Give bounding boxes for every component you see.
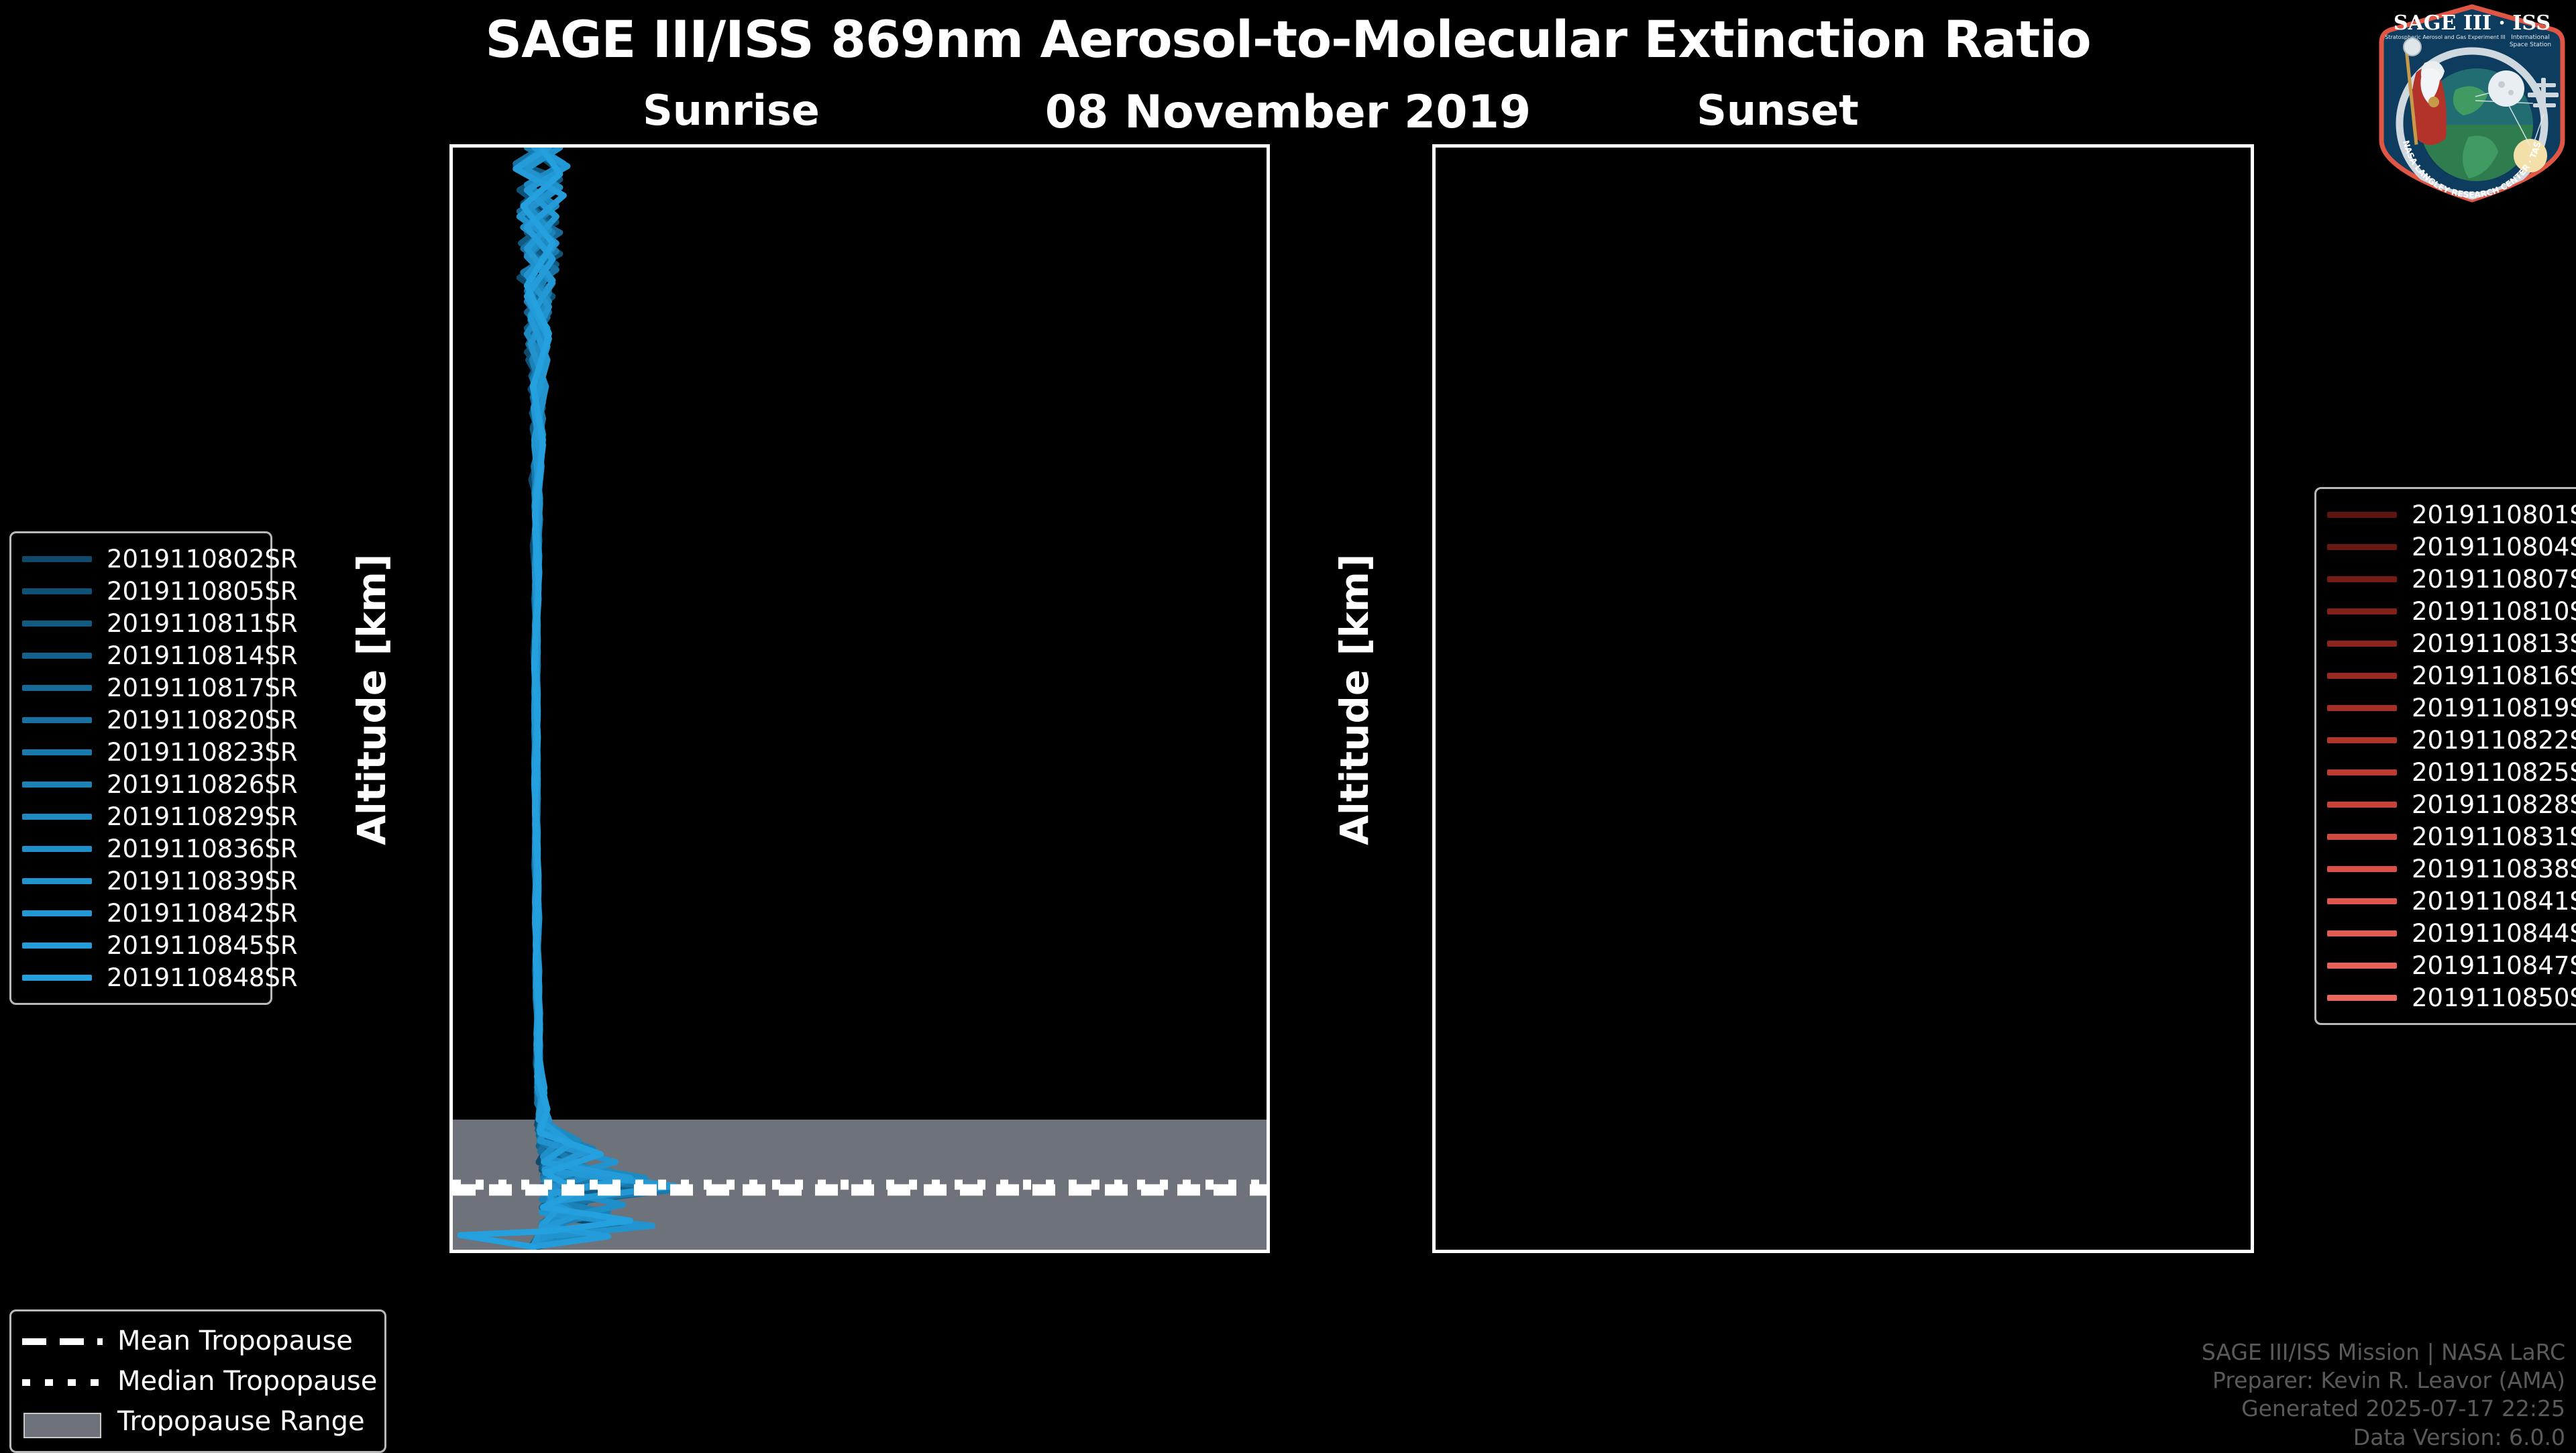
legend-item-median-tropopause: Median Tropopause [22, 1361, 371, 1401]
sunset-plot-area [1436, 148, 2251, 1250]
sunset-legend-item[interactable]: 2019110847SS [2327, 949, 2570, 981]
sunrise-legend-item[interactable]: 2019110805SR [22, 575, 257, 607]
median-tropopause-dot-icon [22, 1373, 103, 1390]
sunrise-legend-item[interactable]: 2019110820SR [22, 704, 257, 736]
legend-color-swatch-icon [22, 975, 92, 981]
credits-line: Data Version: 6.0.0 [2202, 1423, 2565, 1452]
legend-label: 2019110836SR [107, 835, 298, 863]
sunrise-y-axis-label: Altitude [km] [349, 554, 394, 845]
legend-item-mean-tropopause: Mean Tropopause [22, 1321, 371, 1361]
legend-color-swatch-icon [2327, 705, 2397, 711]
legend-color-swatch-icon [2327, 930, 2397, 936]
legend-color-swatch-icon [2327, 641, 2397, 647]
patch-title: SAGE III · ISS [2394, 11, 2551, 35]
sunset-legend-item[interactable]: 2019110810SS [2327, 595, 2570, 627]
legend-color-swatch-icon [22, 846, 92, 852]
sage-iii-iss-mission-patch-logo: SAGE III · ISS Stratospheric Aerosol and… [2375, 3, 2569, 204]
sunrise-legend: 2019110802SR2019110805SR2019110811SR2019… [9, 531, 272, 1005]
sunset-legend-item[interactable]: 2019110819SS [2327, 692, 2570, 724]
patch-subtitle-right-2: Space Station [2510, 42, 2551, 48]
legend-label: 2019110845SR [107, 931, 298, 960]
legend-color-swatch-icon [2327, 802, 2397, 808]
legend-color-swatch-icon [2327, 673, 2397, 679]
sunset-legend-item[interactable]: 2019110825SS [2327, 756, 2570, 788]
legend-color-swatch-icon [2327, 995, 2397, 1001]
sunrise-legend-item[interactable]: 2019110848SR [22, 961, 257, 993]
sunrise-legend-item[interactable]: 2019110802SR [22, 543, 257, 575]
legend-color-swatch-icon [2327, 866, 2397, 872]
sunset-legend: 2019110801SS2019110804SS2019110807SS2019… [2314, 487, 2576, 1025]
legend-label: 2019110820SR [107, 706, 298, 735]
legend-label: 2019110829SR [107, 802, 298, 831]
sunset-y-axis-label: Altitude [km] [1332, 554, 1377, 845]
sunrise-legend-item[interactable]: 2019110836SR [22, 832, 257, 865]
sunrise-legend-item[interactable]: 2019110823SR [22, 736, 257, 768]
sunrise-plot-panel [449, 144, 1270, 1253]
legend-label: 2019110848SR [107, 963, 298, 992]
credits-line: Preparer: Kevin R. Leavor (AMA) [2202, 1366, 2565, 1395]
patch-subtitle-right-1: International [2511, 34, 2549, 41]
legend-label: 2019110814SR [107, 641, 298, 670]
legend-color-swatch-icon [2327, 898, 2397, 904]
legend-label: 2019110850SS [2412, 983, 2576, 1012]
legend-label: 2019110823SR [107, 738, 298, 767]
mean-tropopause-dash-icon [22, 1332, 103, 1350]
legend-color-swatch-icon [22, 653, 92, 659]
patch-subtitle-left: Stratospheric Aerosol and Gas Experiment… [2385, 34, 2505, 40]
legend-color-swatch-icon [22, 685, 92, 691]
sunset-plot-panel [1432, 144, 2254, 1253]
legend-color-swatch-icon [22, 717, 92, 723]
legend-color-swatch-icon [2327, 608, 2397, 614]
legend-label: 2019110822SS [2412, 726, 2576, 755]
legend-label: 2019110838SS [2412, 855, 2576, 883]
legend-color-swatch-icon [2327, 963, 2397, 969]
page-title: SAGE III/ISS 869nm Aerosol-to-Molecular … [0, 9, 2576, 69]
legend-label: 2019110825SS [2412, 758, 2576, 787]
legend-color-swatch-icon [22, 556, 92, 562]
legend-label: 2019110804SS [2412, 533, 2576, 561]
legend-color-swatch-icon [22, 588, 92, 594]
legend-color-swatch-icon [22, 910, 92, 916]
sunrise-legend-item[interactable]: 2019110842SR [22, 897, 257, 929]
sunset-legend-item[interactable]: 2019110831SS [2327, 820, 2570, 853]
credits-line: Generated 2025-07-17 22:25 [2202, 1395, 2565, 1423]
legend-color-swatch-icon [22, 878, 92, 884]
legend-color-swatch-icon [2327, 544, 2397, 550]
legend-label: 2019110828SS [2412, 790, 2576, 819]
legend-label: 2019110811SR [107, 609, 298, 638]
legend-color-swatch-icon [22, 621, 92, 627]
legend-color-swatch-icon [2327, 769, 2397, 775]
sunrise-legend-item[interactable]: 2019110845SR [22, 929, 257, 961]
legend-label: 2019110802SR [107, 545, 298, 574]
legend-label: 2019110841SS [2412, 887, 2576, 916]
legend-color-swatch-icon [2327, 512, 2397, 518]
legend-color-swatch-icon [2327, 576, 2397, 582]
sunset-legend-item[interactable]: 2019110841SS [2327, 885, 2570, 917]
sunset-legend-item[interactable]: 2019110813SS [2327, 627, 2570, 659]
legend-label: 2019110819SS [2412, 694, 2576, 722]
legend-label: 2019110801SS [2412, 500, 2576, 529]
sunset-legend-item[interactable]: 2019110807SS [2327, 563, 2570, 595]
legend-color-swatch-icon [22, 749, 92, 755]
legend-label: Tropopause Range [117, 1406, 365, 1437]
legend-color-swatch-icon [2327, 737, 2397, 743]
legend-color-swatch-icon [2327, 834, 2397, 840]
legend-label: 2019110831SS [2412, 822, 2576, 851]
sunset-legend-item[interactable]: 2019110838SS [2327, 853, 2570, 885]
sunrise-legend-item[interactable]: 2019110814SR [22, 639, 257, 671]
legend-color-swatch-icon [22, 943, 92, 949]
sunrise-legend-item[interactable]: 2019110839SR [22, 865, 257, 897]
sunrise-plot-area [453, 148, 1267, 1250]
sunset-legend-item[interactable]: 2019110822SS [2327, 724, 2570, 756]
sunrise-panel-title: Sunrise [530, 86, 932, 135]
legend-label: 2019110810SS [2412, 597, 2576, 626]
sunset-legend-item[interactable]: 2019110801SS [2327, 498, 2570, 531]
legend-label: 2019110844SS [2412, 919, 2576, 948]
credits-line: SAGE III/ISS Mission | NASA LaRC [2202, 1338, 2565, 1366]
legend-label: 2019110826SR [107, 770, 298, 799]
legend-label: 2019110839SR [107, 867, 298, 896]
sunset-legend-item[interactable]: 2019110828SS [2327, 788, 2570, 820]
legend-label: 2019110816SS [2412, 661, 2576, 690]
legend-label: 2019110817SR [107, 674, 298, 702]
legend-item-tropopause-range: Tropopause Range [22, 1401, 371, 1442]
sunset-legend-item[interactable]: 2019110850SS [2327, 981, 2570, 1014]
sunrise-legend-item[interactable]: 2019110826SR [22, 768, 257, 800]
tropopause-range-patch-icon [22, 1413, 103, 1430]
sunset-legend-item[interactable]: 2019110816SS [2327, 659, 2570, 692]
sunrise-legend-item[interactable]: 2019110811SR [22, 607, 257, 639]
sunset-legend-item[interactable]: 2019110844SS [2327, 917, 2570, 949]
legend-color-swatch-icon [22, 814, 92, 820]
credits-block: SAGE III/ISS Mission | NASA LaRC Prepare… [2202, 1338, 2565, 1452]
tropopause-legend: Mean Tropopause Median Tropopause Tropop… [9, 1309, 386, 1453]
sunset-legend-item[interactable]: 2019110804SS [2327, 531, 2570, 563]
legend-label: 2019110805SR [107, 577, 298, 606]
legend-label: 2019110847SS [2412, 951, 2576, 980]
sunrise-legend-item[interactable]: 2019110817SR [22, 671, 257, 704]
sunset-panel-title: Sunset [1576, 86, 1979, 135]
legend-label: Median Tropopause [117, 1366, 377, 1397]
legend-label: Mean Tropopause [117, 1326, 353, 1356]
legend-label: 2019110813SS [2412, 629, 2576, 658]
date-subtitle: 08 November 2019 [0, 86, 2576, 139]
legend-label: 2019110807SS [2412, 565, 2576, 594]
legend-label: 2019110842SR [107, 899, 298, 928]
sunrise-legend-item[interactable]: 2019110829SR [22, 800, 257, 832]
legend-color-swatch-icon [22, 782, 92, 788]
